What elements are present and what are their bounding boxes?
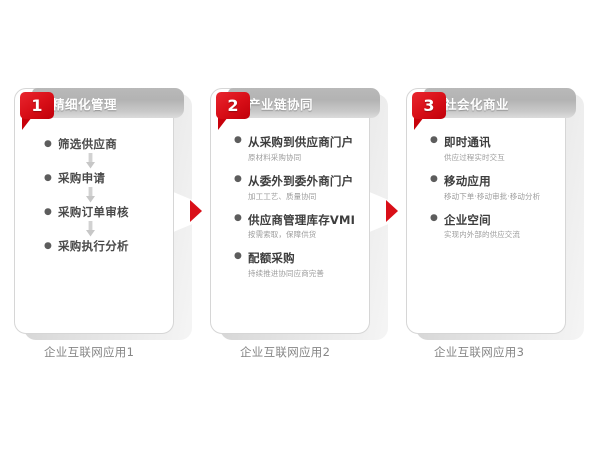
list-item-label: 配额采购 bbox=[248, 252, 295, 266]
list-item-label: 采购订单审核 bbox=[58, 204, 129, 220]
step-number: 3 bbox=[423, 98, 434, 114]
list-item[interactable]: ● 采购订单审核 bbox=[44, 204, 129, 220]
step-number-badge: 1 bbox=[20, 92, 54, 119]
list-item-subtitle: 供应过程实时交互 bbox=[444, 152, 572, 163]
panel-header-bar: 社会化商业 bbox=[424, 88, 576, 118]
bullet-icon: ● bbox=[44, 208, 53, 217]
panel-2-caption: 企业互联网应用2 bbox=[240, 344, 330, 360]
list-item[interactable]: ● 采购执行分析 bbox=[44, 238, 129, 254]
list-item-subtitle: 实现内外部的供应交流 bbox=[444, 229, 572, 240]
list-item-label: 供应商管理库存VMI bbox=[248, 214, 355, 228]
bullet-icon: ● bbox=[44, 242, 53, 251]
list-item-label: 企业空间 bbox=[444, 214, 491, 228]
stage-panel-2[interactable]: 产业链协同 2 ● 从采购到供应商门户 原材料采购协同 ● 从委外到委外商门户 … bbox=[210, 88, 388, 336]
arrow-panel1-to-panel2 bbox=[184, 196, 210, 226]
list-item[interactable]: ● 移动应用 移动下单·移动审批·移动分析 bbox=[430, 175, 572, 202]
list-item[interactable]: ● 即时通讯 供应过程实时交互 bbox=[430, 136, 572, 163]
step-number-badge: 3 bbox=[412, 92, 446, 119]
step-number: 1 bbox=[31, 98, 42, 114]
diagram-canvas: 精细化管理 1 ● 筛选供应商 ● 采购申请 bbox=[0, 0, 600, 450]
panel-3-feature-list: ● 即时通讯 供应过程实时交互 ● 移动应用 移动下单·移动审批·移动分析 ● … bbox=[430, 136, 572, 252]
list-item-subtitle: 持续推进协同应商完善 bbox=[248, 268, 376, 279]
list-item-subtitle: 加工工艺、质量协同 bbox=[248, 191, 376, 202]
list-item[interactable]: ● 从采购到供应商门户 原材料采购协同 bbox=[234, 136, 376, 163]
bullet-icon: ● bbox=[44, 140, 53, 149]
list-item-label: 即时通讯 bbox=[444, 136, 491, 150]
list-item-subtitle: 原材料采购协同 bbox=[248, 152, 376, 163]
list-item-label: 从采购到供应商门户 bbox=[248, 136, 353, 150]
bullet-icon: ● bbox=[234, 214, 243, 223]
bullet-icon: ● bbox=[430, 175, 439, 184]
step-number-badge: 2 bbox=[216, 92, 250, 119]
list-item-subtitle: 按需索取，保障供货 bbox=[248, 229, 376, 240]
list-item-label: 采购执行分析 bbox=[58, 238, 129, 254]
panel-2-feature-list: ● 从采购到供应商门户 原材料采购协同 ● 从委外到委外商门户 加工工艺、质量协… bbox=[234, 136, 376, 291]
list-item[interactable]: ● 从委外到委外商门户 加工工艺、质量协同 bbox=[234, 175, 376, 202]
bullet-icon: ● bbox=[430, 136, 439, 145]
arrow-panel2-to-panel3 bbox=[380, 196, 406, 226]
list-item[interactable]: ● 筛选供应商 bbox=[44, 136, 117, 152]
bullet-icon: ● bbox=[234, 175, 243, 184]
bullet-icon: ● bbox=[430, 214, 439, 223]
stage-panel-3[interactable]: 社会化商业 3 ● 即时通讯 供应过程实时交互 ● 移动应用 移动下单·移动审批… bbox=[406, 88, 584, 336]
panel-1-flow-list: ● 筛选供应商 ● 采购申请 ● 采购订单审核 bbox=[44, 136, 129, 254]
panel-header-bar: 精细化管理 bbox=[32, 88, 184, 118]
panel-header-bar: 产业链协同 bbox=[228, 88, 380, 118]
list-item-subtitle: 移动下单·移动审批·移动分析 bbox=[444, 191, 572, 202]
list-item[interactable]: ● 供应商管理库存VMI 按需索取，保障供货 bbox=[234, 214, 376, 241]
list-item-label: 筛选供应商 bbox=[58, 136, 117, 152]
bullet-icon: ● bbox=[44, 174, 53, 183]
panel-1-caption: 企业互联网应用1 bbox=[44, 344, 134, 360]
step-number: 2 bbox=[227, 98, 238, 114]
bullet-icon: ● bbox=[234, 252, 243, 261]
down-arrow-icon bbox=[44, 220, 129, 238]
list-item[interactable]: ● 采购申请 bbox=[44, 170, 105, 186]
bullet-icon: ● bbox=[234, 136, 243, 145]
down-arrow-icon bbox=[44, 186, 129, 204]
list-item-label: 移动应用 bbox=[444, 175, 491, 189]
down-arrow-icon bbox=[44, 152, 129, 170]
panel-3-caption: 企业互联网应用3 bbox=[434, 344, 524, 360]
list-item-label: 采购申请 bbox=[58, 170, 105, 186]
list-item[interactable]: ● 企业空间 实现内外部的供应交流 bbox=[430, 214, 572, 241]
list-item-label: 从委外到委外商门户 bbox=[248, 175, 353, 189]
list-item[interactable]: ● 配额采购 持续推进协同应商完善 bbox=[234, 252, 376, 279]
stage-panel-1[interactable]: 精细化管理 1 ● 筛选供应商 ● 采购申请 bbox=[14, 88, 192, 336]
